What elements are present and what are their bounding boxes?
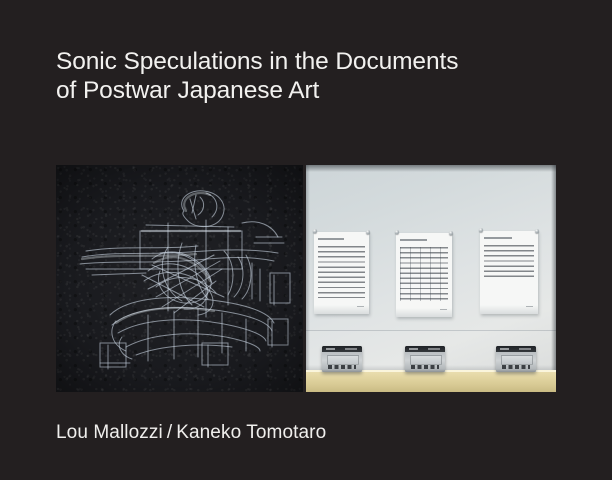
cassette-player-2-top <box>405 346 445 352</box>
figure-strip <box>56 165 556 392</box>
document-3-pin-left <box>479 228 483 232</box>
cassette-player-1-brand-mark <box>326 348 335 350</box>
document-2-header <box>400 239 427 241</box>
cassette-player-1-transport-buttons <box>328 365 356 369</box>
document-3 <box>480 231 538 314</box>
document-3-pin-right <box>535 229 539 233</box>
document-3-text-lines <box>484 245 534 277</box>
document-1-text-lines <box>318 246 365 298</box>
document-2-pin-right <box>449 231 453 235</box>
caption-artist-left: Lou Mallozzi <box>56 422 163 443</box>
wall-top-shadow <box>306 165 556 172</box>
cassette-player-2-window <box>410 355 442 365</box>
cassette-player-1-label-strip <box>345 348 357 350</box>
cassette-player-1 <box>322 346 362 372</box>
cassette-player-3-label-strip <box>519 348 531 350</box>
cassette-player-2-label-strip <box>428 348 440 350</box>
cassette-player-2-transport-buttons <box>411 365 439 369</box>
document-2-pin-left <box>395 230 399 234</box>
cassette-player-1-window <box>327 355 359 365</box>
document-2-text-lines <box>400 247 448 301</box>
cassette-player-1-top <box>322 346 362 352</box>
document-1-pin-left <box>313 229 317 233</box>
display-shelf <box>306 370 556 392</box>
wall-left-shadow <box>306 165 310 370</box>
page-title: Sonic Speculations in the Documents of P… <box>56 47 576 105</box>
document-2 <box>396 233 452 317</box>
wall-seam-line <box>306 330 556 331</box>
document-3-header <box>484 237 512 239</box>
document-1-pin-right <box>366 230 370 234</box>
cassette-player-3-brand-mark <box>500 348 509 350</box>
cassette-player-3-top <box>496 346 536 352</box>
cassette-player-3-transport-buttons <box>502 365 530 369</box>
figure-installation-photo <box>306 165 556 392</box>
document-1 <box>314 232 369 314</box>
document-1-header <box>318 238 344 240</box>
caption-separator: / <box>163 422 176 443</box>
page-title-line-2: of Postwar Japanese Art <box>56 76 576 105</box>
document-3-curl <box>480 305 538 314</box>
document-1-curl <box>314 305 369 314</box>
document-2-curl <box>396 308 452 317</box>
wall-right-shadow <box>551 165 556 370</box>
page-title-line-1: Sonic Speculations in the Documents <box>56 47 576 76</box>
slide-root: Sonic Speculations in the Documents of P… <box>0 0 612 480</box>
figure-chalk-drawing <box>56 165 303 392</box>
cassette-player-2-brand-mark <box>409 348 418 350</box>
chalk-scribble-drawing <box>56 165 303 392</box>
caption-artist-right: Kaneko Tomotaro <box>176 422 326 443</box>
cassette-player-3 <box>496 346 536 372</box>
cassette-player-3-window <box>501 355 533 365</box>
cassette-player-2 <box>405 346 445 372</box>
figure-caption: Lou Mallozzi/Kaneko Tomotaro <box>56 421 326 445</box>
